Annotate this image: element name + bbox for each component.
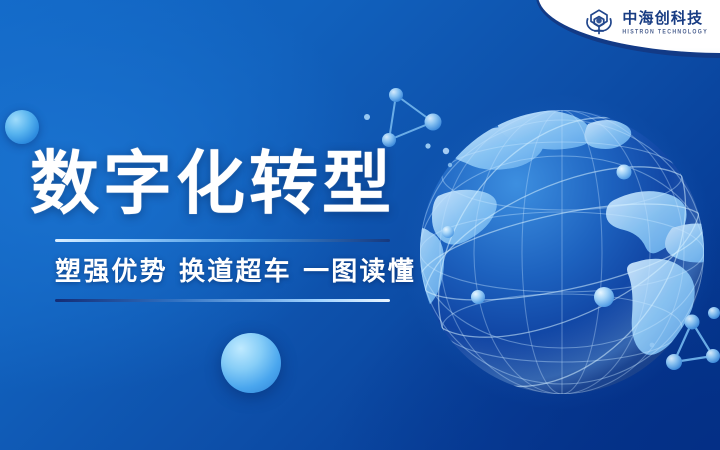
brand-logo[interactable]: 中海创科技 HISTRON TECHNOLOGY xyxy=(583,7,708,39)
headline-block: 数字化转型 塑强优势 换道超车 一图读懂 xyxy=(30,150,460,302)
brand-name-cn: 中海创科技 xyxy=(622,11,708,26)
page-title: 数字化转型 xyxy=(30,150,460,219)
globe-nodes xyxy=(442,148,632,307)
network-node-triangle-bottom xyxy=(650,307,720,370)
brand-name-en: HISTRON TECHNOLOGY xyxy=(622,30,708,36)
divider-bottom xyxy=(55,299,390,302)
brand-text: 中海创科技 HISTRON TECHNOLOGY xyxy=(622,11,708,35)
banner-canvas: 数字化转型 塑强优势 换道超车 一图读懂 中海创科技 HISTRON TECHN… xyxy=(0,0,720,450)
divider-top xyxy=(55,239,390,242)
decorative-sphere-large xyxy=(221,333,281,393)
decorative-sphere-small xyxy=(5,110,39,144)
page-subtitle: 塑强优势 换道超车 一图读懂 xyxy=(55,251,460,288)
histron-emblem-icon xyxy=(583,7,615,39)
